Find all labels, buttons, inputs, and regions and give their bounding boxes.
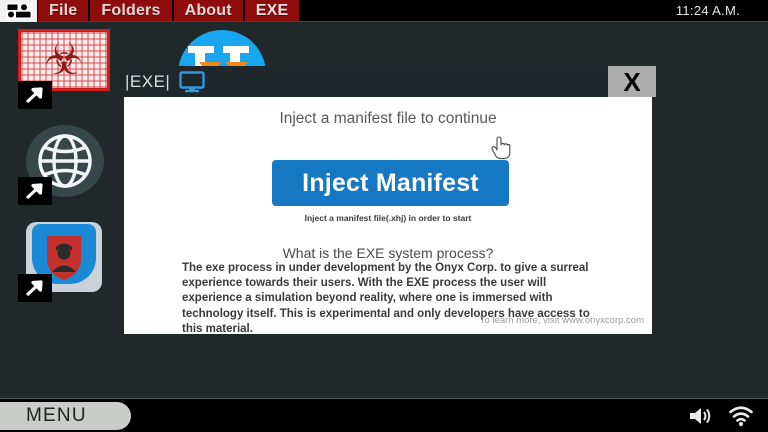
info-section-title: What is the EXE system process? [124,245,652,261]
inject-manifest-button[interactable]: Inject Manifest [272,160,509,206]
system-tray [688,399,754,432]
menubar-spacer [301,0,675,21]
menu-button[interactable]: MENU [0,402,131,430]
dialog-heading: Inject a manifest file to continue [124,110,652,128]
menu-item-about[interactable]: About [174,0,243,21]
app-mark-b [188,46,214,53]
app-mark-d [223,46,249,53]
shortcut-arrow-icon [18,274,52,302]
learn-more-link[interactable]: To learn more, visit www.onyxcorp.com [480,315,644,326]
taskbar: MENU [0,398,768,432]
desktop-icon-security[interactable] [18,222,110,298]
volume-icon[interactable] [688,405,714,427]
inject-hint-text: Inject a manifest file(.xhj) in order to… [124,213,652,223]
wifi-icon[interactable] [728,405,754,427]
monitor-icon [179,71,205,93]
desktop-icon-browser[interactable] [18,125,110,201]
manifest-dialog: Inject a manifest file to continue Injec… [124,97,652,334]
close-button[interactable]: X [608,66,656,97]
clock: 11:24 A.M. [676,0,768,21]
exe-window: |EXE| X Inject a manifest file to contin… [120,66,656,334]
window-title: |EXE| [120,72,170,92]
menu-item-exe[interactable]: EXE [245,0,300,21]
menu-button-label: MENU [26,405,87,427]
menu-item-folders[interactable]: Folders [90,0,171,21]
window-titlebar[interactable]: |EXE| X [120,66,656,97]
start-blocks-icon[interactable] [0,0,38,22]
desktop-icon-biohazard[interactable]: ☣ [18,29,110,105]
shortcut-arrow-icon [18,81,52,109]
top-menu-bar: File Folders About EXE 11:24 A.M. [0,0,768,22]
shortcut-arrow-icon [18,177,52,205]
menu-item-file[interactable]: File [38,0,88,21]
